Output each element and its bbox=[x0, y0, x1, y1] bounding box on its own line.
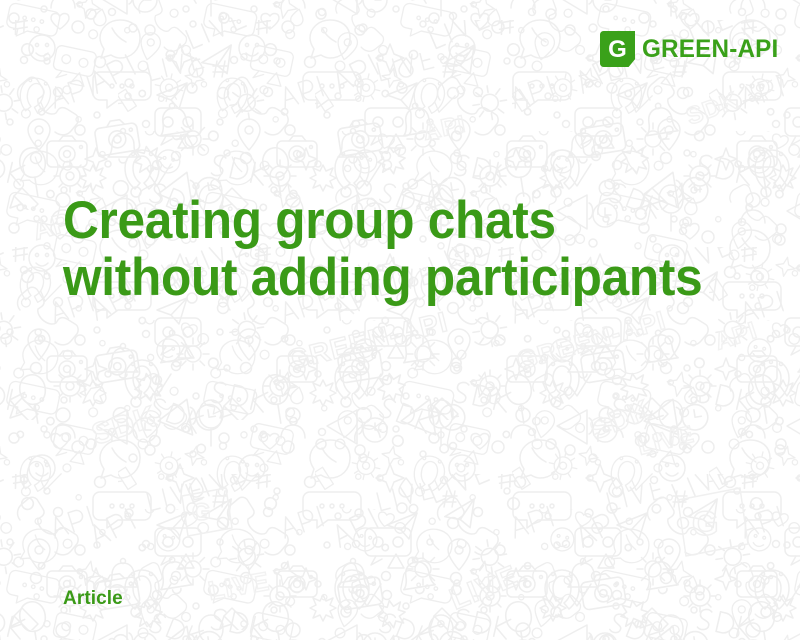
svg-text:G: G bbox=[608, 36, 627, 63]
brand-wordmark: GREEN-API bbox=[642, 37, 778, 62]
page-title: Creating group chats without adding part… bbox=[63, 192, 718, 306]
svg-text:LIVE: LIVE bbox=[445, 559, 523, 616]
brand-logo[interactable]: G GREEN-API bbox=[600, 31, 783, 67]
page-title-line-1: Creating group chats bbox=[63, 192, 718, 249]
article-cover-banner: GREEN-API GREEN-API SDK SDK SDK LIVE LIV… bbox=[0, 0, 800, 640]
svg-text:SDK: SDK bbox=[88, 400, 161, 452]
svg-text:GREEN-API: GREEN-API bbox=[513, 305, 669, 376]
svg-text:API: API bbox=[712, 317, 761, 356]
svg-text:LIVE: LIVE bbox=[206, 566, 272, 606]
svg-text:SDK: SDK bbox=[586, 394, 655, 446]
doodle-background-pattern: GREEN-API GREEN-API SDK SDK SDK LIVE LIV… bbox=[0, 0, 800, 640]
svg-text:LIVE: LIVE bbox=[635, 421, 697, 461]
green-api-logo-mark-icon: G bbox=[600, 31, 635, 67]
content-type-label: Article bbox=[63, 588, 123, 610]
svg-text:GREEN-API: GREEN-API bbox=[284, 306, 451, 376]
svg-text:SDK: SDK bbox=[683, 87, 743, 131]
svg-text:G: G bbox=[192, 499, 211, 526]
svg-text:API: API bbox=[421, 111, 469, 146]
svg-text:G: G bbox=[692, 505, 718, 543]
page-title-line-2: without adding participants bbox=[63, 249, 718, 306]
